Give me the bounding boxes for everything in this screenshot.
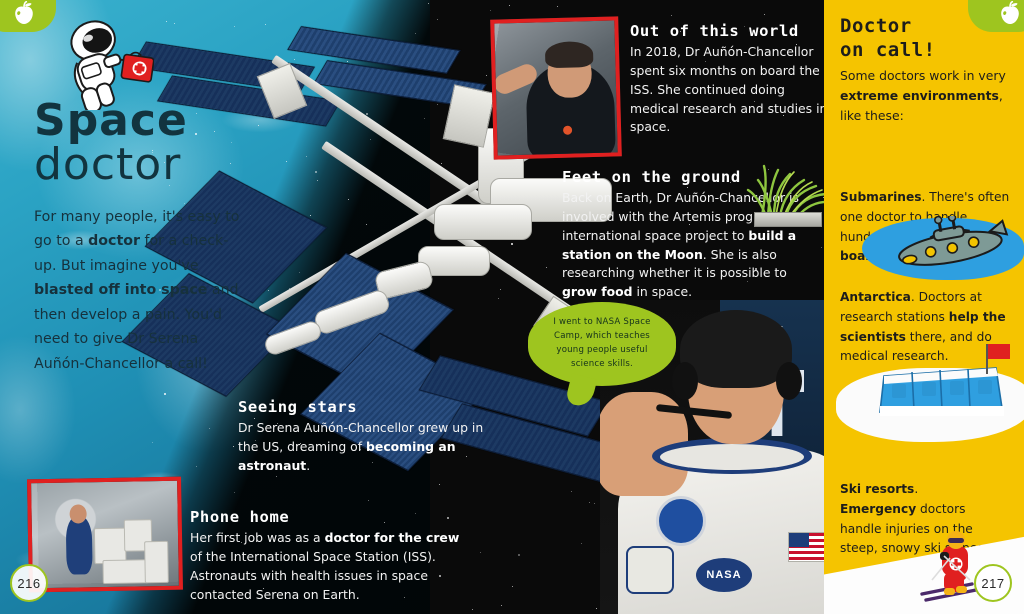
block-heading: Phone home (190, 508, 460, 526)
page-title: Space doctor (34, 100, 354, 186)
plant-tray (754, 212, 822, 227)
red-cross-flag-icon (986, 344, 988, 374)
block-phone-home: Phone home Her first job was as a doctor… (190, 508, 460, 604)
block-seeing-stars: Seeing stars Dr Serena Auñón-Chancellor … (238, 398, 488, 476)
speech-bubble: I went to NASA Space Camp, which teaches… (528, 302, 676, 386)
sidebar-doctor-on-call: Doctor on call! Some doctors work in ver… (824, 0, 1024, 614)
submarine-illustration (892, 216, 1012, 268)
spread-page: Space doctor For many people, it's easy … (0, 0, 1024, 614)
photo-lab (27, 477, 183, 593)
block-heading: Out of this world (630, 22, 830, 40)
block-body: Dr Serena Auñón-Chancellor grew up in th… (238, 419, 488, 476)
block-out-of-this-world: Out of this world In 2018, Dr Auñón-Chan… (630, 22, 830, 137)
block-heading: Seeing stars (238, 398, 488, 416)
apple-icon (13, 1, 35, 25)
block-body: Her first job was as a doctor for the cr… (190, 529, 460, 604)
page-title-line2: doctor (34, 144, 354, 186)
apple-icon (999, 1, 1021, 25)
page-number-left: 216 (10, 564, 48, 602)
sidebar-lead: Some doctors work in very extreme enviro… (840, 66, 1018, 126)
intro-paragraph: For many people, it's easy to go to a do… (34, 205, 249, 376)
nasa-patch: NASA (696, 558, 752, 592)
page-title-line1: Space (34, 100, 354, 142)
photo-iss-crew (490, 16, 622, 159)
block-body: In 2018, Dr Auñón-Chancellor spent six m… (630, 43, 830, 137)
sidebar-title-line2: on call! (840, 38, 1010, 62)
page-number-right: 217 (974, 564, 1012, 602)
speech-bubble-text: I went to NASA Space Camp, which teaches… (542, 316, 662, 372)
